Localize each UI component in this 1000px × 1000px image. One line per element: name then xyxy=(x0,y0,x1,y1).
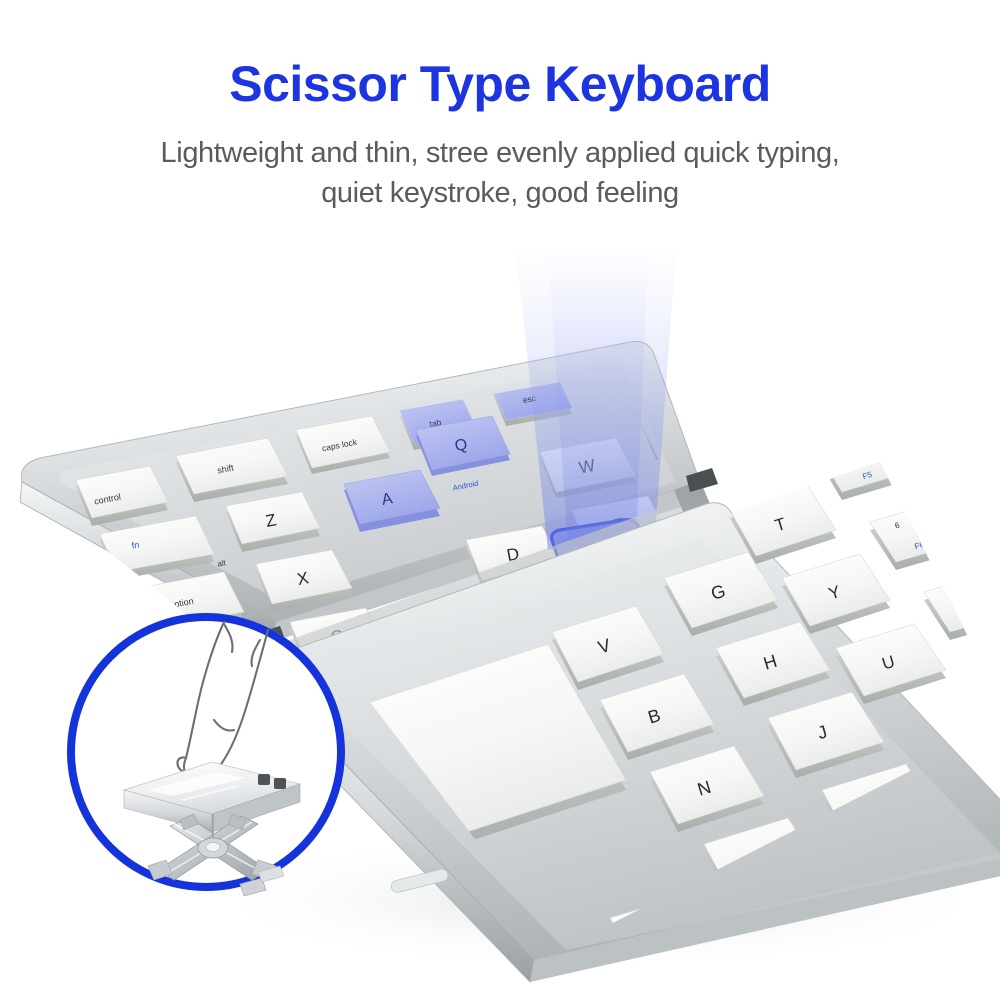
subtitle-line-1: Lightweight and thin, stree evenly appli… xyxy=(70,133,930,173)
keycap-number[interactable]: 7 xyxy=(924,570,1000,640)
keycap-label-alt: alt xyxy=(772,972,787,987)
keycap-number-label: 5 xyxy=(842,450,849,460)
heading-block: Scissor Type Keyboard Lightweight and th… xyxy=(0,58,1000,213)
keycap-contact xyxy=(258,774,270,785)
scissor-mechanism-inset xyxy=(62,608,350,896)
subtitle-line-2: quiet keystroke, good feeling xyxy=(70,173,930,213)
previous-track-icon xyxy=(894,458,901,466)
page-subtitle: Lightweight and thin, stree evenly appli… xyxy=(70,133,930,213)
keycap-fn-label: F3 xyxy=(714,492,725,503)
data-carriers: foldable-scissor-switch-keyboard scissor… xyxy=(0,0,1,1)
keycap-contact xyxy=(274,778,286,789)
brightness-icon xyxy=(703,427,710,434)
page-title: Scissor Type Keyboard xyxy=(0,58,1000,111)
product-name: foldable-scissor-switch-keyboard xyxy=(0,0,1,1)
keycap-label: pgdn xyxy=(942,956,969,975)
keycap-home[interactable]: home xyxy=(788,974,912,1000)
keycap-number[interactable]: 5 F5 xyxy=(818,430,916,500)
mission-control-icon xyxy=(736,482,744,488)
keycap-number[interactable]: 6 F6 xyxy=(870,500,972,570)
product-marketing-banner: Scissor Type Keyboard Lightweight and th… xyxy=(0,0,1000,1000)
rewind-icon xyxy=(946,527,954,537)
